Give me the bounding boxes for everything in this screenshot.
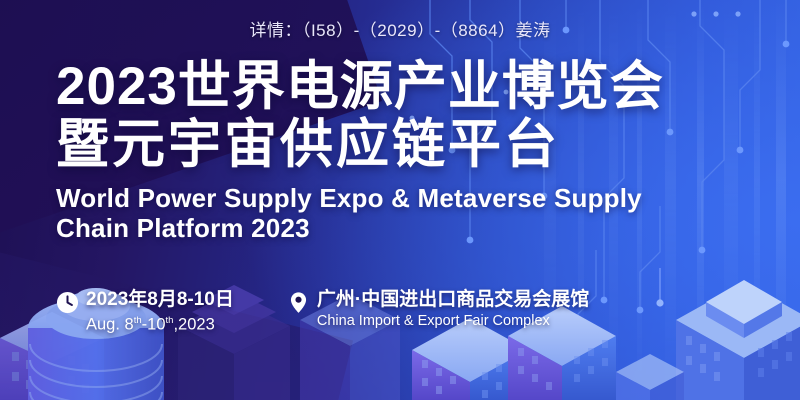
event-banner: 详情：（I58）-（2029）-（8864）姜涛 2023世界电源产业博览会 暨… (0, 0, 800, 400)
title-chinese-line-2: 暨元宇宙供应链平台 (56, 116, 664, 174)
date-english: Aug. 8th-10th,2023 (86, 311, 234, 335)
title-english-line-2: Chain Platform 2023 (56, 213, 664, 243)
date-text: 2023年8月8-10日 Aug. 8th-10th,2023 (86, 288, 234, 335)
date-en-mid: -10 (142, 316, 166, 334)
clock-icon (56, 291, 79, 314)
venue-text: 广州·中国进出口商品交易会展馆 China Import & Export Fa… (317, 288, 589, 331)
contact-line: 详情：（I58）-（2029）-（8864）姜涛 (0, 16, 800, 41)
venue-primary: 广州·中国进出口商品交易会展馆 (317, 288, 589, 311)
date-en-prefix: Aug. 8 (86, 316, 134, 334)
date-primary: 2023年8月8-10日 (86, 288, 234, 311)
location-pin-icon (287, 291, 310, 314)
title-chinese-line-1: 2023世界电源产业博览会 (56, 58, 664, 116)
title-english-line-1: World Power Supply Expo & Metaverse Supp… (56, 183, 664, 213)
date-en-sup1: th (134, 315, 142, 326)
date-info: 2023年8月8-10日 Aug. 8th-10th,2023 (56, 288, 234, 335)
info-bar: 2023年8月8-10日 Aug. 8th-10th,2023 广州·中国进出口… (56, 288, 589, 335)
venue-secondary: China Import & Export Fair Complex (317, 311, 589, 331)
date-en-suffix: ,2023 (173, 316, 214, 334)
banner-content: 详情：（I58）-（2029）-（8864）姜涛 2023世界电源产业博览会 暨… (0, 0, 800, 400)
venue-info: 广州·中国进出口商品交易会展馆 China Import & Export Fa… (287, 288, 589, 331)
title-block: 2023世界电源产业博览会 暨元宇宙供应链平台 World Power Supp… (56, 58, 664, 243)
